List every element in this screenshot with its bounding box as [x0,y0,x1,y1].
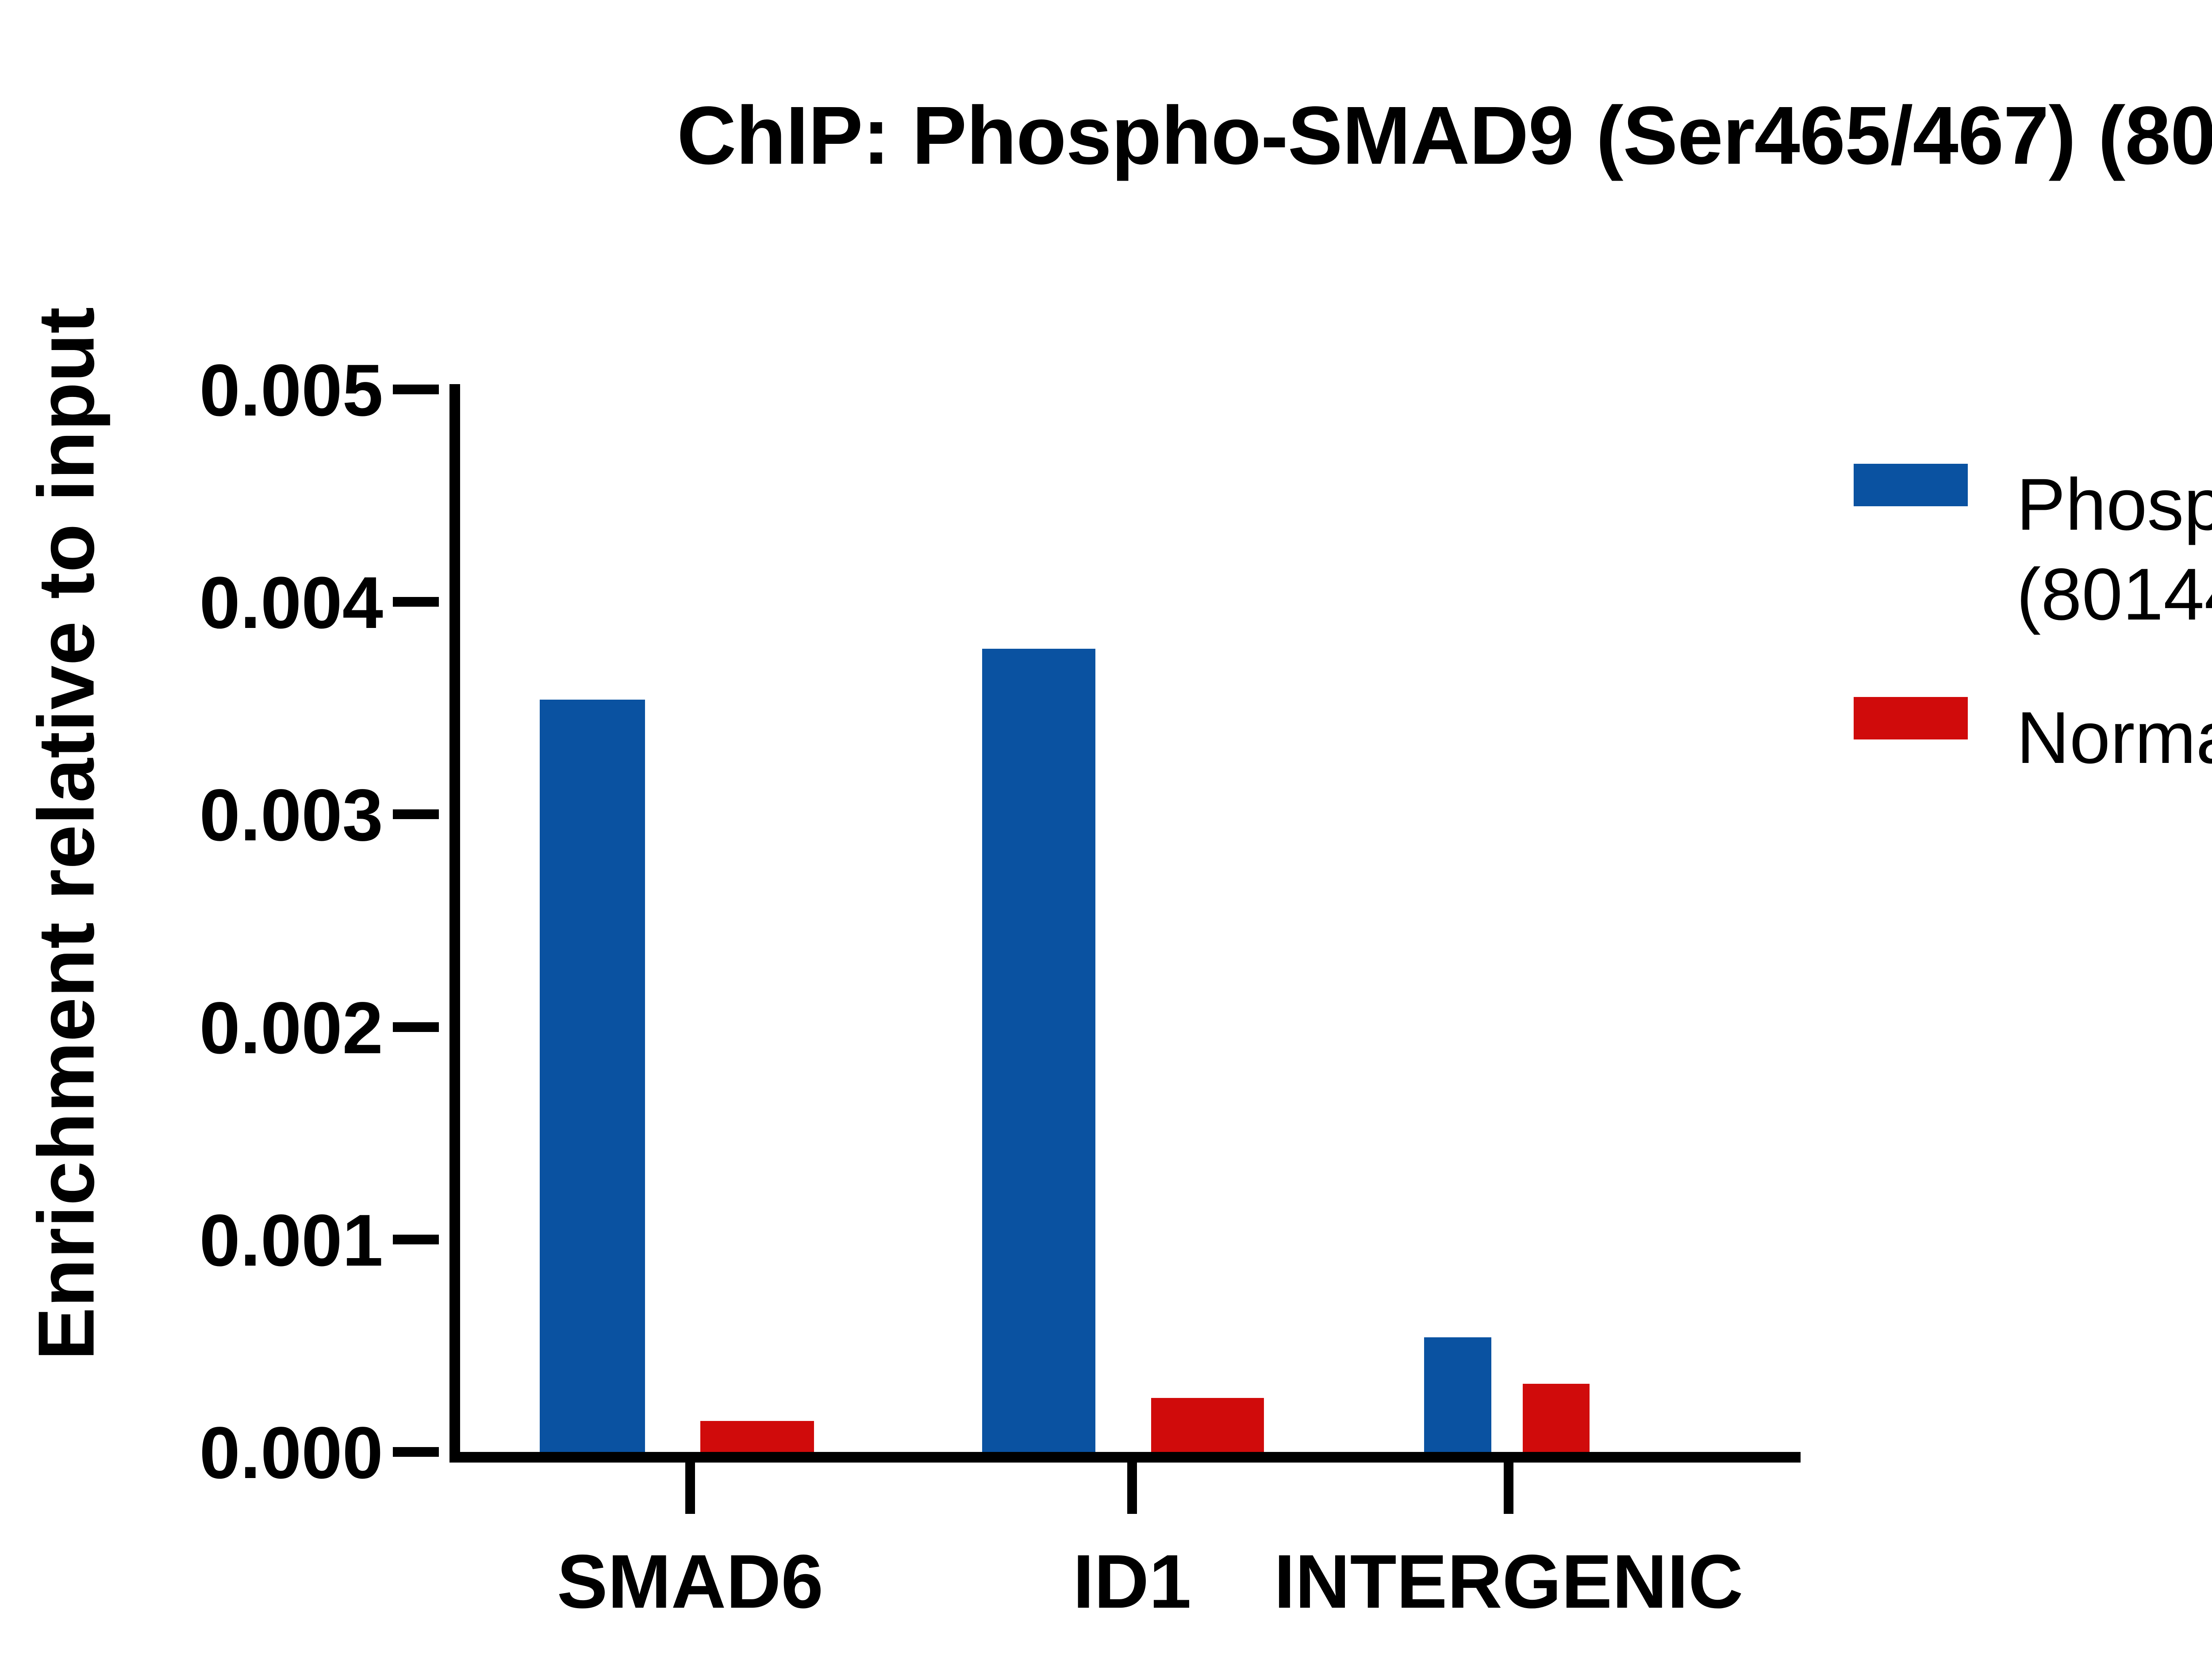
legend-label-1: Phospho-SMAD9 (Ser465/467) (80144-2-RR) [2016,460,2212,639]
plot-area: 0.0000.0010.0020.0030.0040.005 SMAD6ID1I… [460,389,1801,1452]
y-axis-line [449,384,460,1457]
bar-intergenic-series2 [1523,1384,1590,1452]
legend-item-1: Phospho-SMAD9 (Ser465/467) (80144-2-RR) [1854,460,2212,639]
chart-title: ChIP: Phospho-SMAD9 (Ser465/467) (80144-… [0,89,2212,183]
y-tick-mark [393,1022,439,1032]
y-tick-mark [393,1447,439,1457]
x-tick-mark [1127,1463,1137,1514]
y-tick-label: 0.002 [29,986,383,1070]
y-tick-label: 0.004 [29,561,383,645]
bar-id1-series2 [1151,1398,1264,1452]
y-tick-mark [393,597,439,607]
legend-swatch-1 [1854,464,1968,506]
x-tick-mark [685,1463,695,1514]
x-tick-label-intergenic: INTERGENIC [1199,1538,1818,1625]
x-tick-mark [1504,1463,1513,1514]
legend-swatch-2 [1854,697,1968,739]
legend-label-2: Normal Rabbit IgG (98136-1-RR) [2016,693,2212,783]
y-tick-mark [393,809,439,819]
bar-smad6-series2 [700,1421,814,1452]
chart-figure: ChIP: Phospho-SMAD9 (Ser465/467) (80144-… [0,0,2212,1667]
legend-item-2: Normal Rabbit IgG (98136-1-RR) [1854,693,2212,783]
x-axis-line [449,1452,1801,1463]
chart-legend: Phospho-SMAD9 (Ser465/467) (80144-2-RR)N… [1854,460,2212,783]
y-tick-mark [393,385,439,394]
bar-id1-series1 [982,649,1095,1452]
bar-smad6-series1 [540,700,645,1452]
y-tick-label: 0.000 [29,1411,383,1495]
y-tick-label: 0.003 [29,774,383,858]
y-tick-mark [393,1235,439,1244]
y-tick-label: 0.005 [29,349,383,433]
bar-intergenic-series1 [1424,1337,1491,1452]
y-tick-label: 0.001 [29,1199,383,1283]
